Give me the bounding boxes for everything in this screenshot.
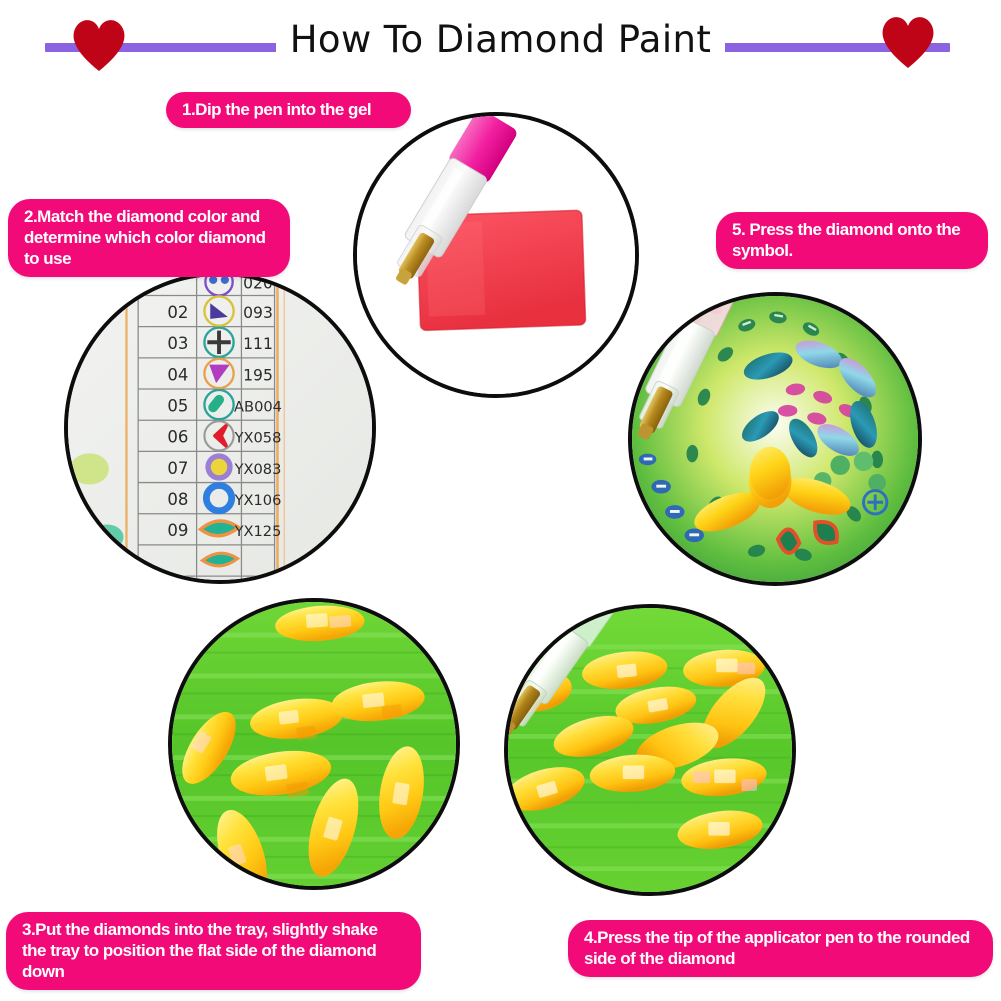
step-5-label: 5. Press the diamond onto the symbol. [716, 212, 988, 269]
infographic-canvas: How To Diamond Paint 1.Dip the pen into … [0, 0, 1001, 1001]
svg-text:05: 05 [167, 396, 188, 415]
svg-text:09: 09 [167, 521, 188, 540]
page-title-text: How To Diamond Paint [276, 18, 726, 61]
svg-text:YX125: YX125 [234, 523, 282, 540]
svg-text:08: 08 [167, 490, 188, 509]
step-5-photo [628, 292, 922, 586]
svg-text:YX058: YX058 [234, 430, 282, 447]
svg-text:YX106: YX106 [234, 492, 282, 509]
svg-text:YX083: YX083 [234, 461, 282, 478]
step-2-label: 2.Match the diamond color and determine … [8, 199, 290, 277]
step-2-photo: 020 02 093 03 111 04 195 05 [64, 272, 376, 584]
header: How To Diamond Paint [0, 0, 1001, 90]
step-3-photo [168, 598, 460, 890]
step-4-photo [504, 604, 796, 896]
svg-text:06: 06 [167, 428, 188, 447]
svg-text:111: 111 [243, 335, 273, 353]
diamonds-in-tray-illustration [172, 602, 456, 886]
symbol-chart-illustration: 020 02 093 03 111 04 195 05 [68, 276, 372, 580]
pressing-diamond-onto-symbol-illustration [632, 296, 918, 582]
step-1-photo [353, 112, 639, 398]
svg-text:07: 07 [167, 459, 188, 478]
svg-text:03: 03 [167, 334, 188, 353]
pen-picking-diamond-illustration [508, 608, 792, 892]
page-title: How To Diamond Paint [0, 18, 1001, 62]
step-4-label: 4.Press the tip of the applicator pen to… [568, 920, 993, 977]
svg-text:02: 02 [167, 303, 188, 322]
svg-text:020: 020 [243, 276, 273, 293]
svg-text:04: 04 [167, 365, 188, 384]
svg-text:195: 195 [243, 366, 273, 384]
pen-dipping-gel-illustration [357, 116, 635, 394]
svg-text:AB004: AB004 [234, 398, 282, 415]
svg-text:093: 093 [243, 304, 273, 322]
step-3-label: 3.Put the diamonds into the tray, slight… [6, 912, 421, 990]
step-1-label: 1.Dip the pen into the gel [166, 92, 411, 128]
